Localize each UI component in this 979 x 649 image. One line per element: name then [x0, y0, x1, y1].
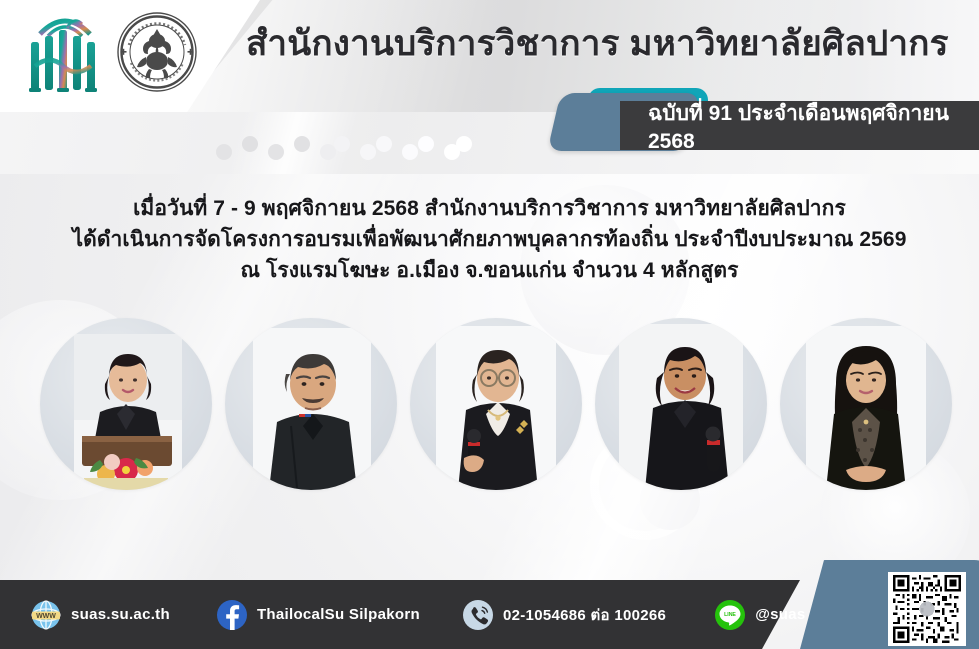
globe-www-icon: WWW — [30, 599, 62, 631]
portrait-5 — [780, 318, 952, 490]
announcement-text: เมื่อวันที่ 7 - 9 พฤศจิกายน 2568 สำนักงา… — [0, 193, 979, 286]
footer-phone-label: 02-1054686 ต่อ 100266 — [503, 603, 666, 627]
portrait-4 — [595, 318, 767, 490]
portrait-2 — [225, 318, 397, 490]
phone-icon — [462, 599, 494, 631]
svg-text:LINE: LINE — [724, 612, 736, 618]
issue-badge: ฉบับที่ 91 ประจำเดือนพฤศจิกายน 2568 — [540, 88, 979, 152]
issue-badge-label: ฉบับที่ 91 ประจำเดือนพฤศจิกายน 2568 — [648, 101, 979, 150]
footer-line-label: @suas — [755, 606, 805, 623]
footer-website[interactable]: WWW suas.su.ac.th — [30, 599, 170, 631]
footer-website-label: suas.su.ac.th — [71, 606, 170, 623]
portrait-3 — [410, 318, 582, 490]
footer-facebook-label: ThailocalSu Silpakorn — [257, 606, 420, 623]
silpakorn-suas-monogram-logo — [22, 6, 108, 98]
page-title: สำนักงานบริการวิชาการ มหาวิทยาลัยศิลปากร — [246, 24, 966, 64]
silpakorn-university-seal-logo — [116, 11, 198, 93]
footer-phone[interactable]: 02-1054686 ต่อ 100266 — [462, 599, 666, 631]
speaker-photo-row — [40, 318, 952, 493]
footer-line[interactable]: LINE @suas — [714, 599, 805, 631]
footer-contact-list: WWW suas.su.ac.th ThailocalSu Silpakorn … — [0, 580, 820, 649]
announcement-line-2: ได้ดำเนินการจัดโครงการอบรมเพื่อพัฒนาศักย… — [0, 224, 979, 255]
line-icon: LINE — [714, 599, 746, 631]
decor-dot-pattern — [216, 130, 456, 170]
newsletter-poster: สำนักงานบริการวิชาการ มหาวิทยาลัยศิลปากร… — [0, 0, 979, 649]
portrait-1 — [40, 318, 212, 490]
qr-code-image — [891, 575, 963, 643]
footer-facebook[interactable]: ThailocalSu Silpakorn — [216, 599, 420, 631]
facebook-icon — [216, 599, 248, 631]
logo-group — [22, 6, 198, 98]
announcement-line-3: ณ โรงแรมโฆษะ อ.เมือง จ.ขอนแก่น จำนวน 4 ห… — [0, 255, 979, 286]
svg-text:WWW: WWW — [36, 612, 56, 619]
announcement-line-1: เมื่อวันที่ 7 - 9 พฤศจิกายน 2568 สำนักงา… — [0, 193, 979, 224]
qr-code[interactable] — [888, 572, 966, 646]
